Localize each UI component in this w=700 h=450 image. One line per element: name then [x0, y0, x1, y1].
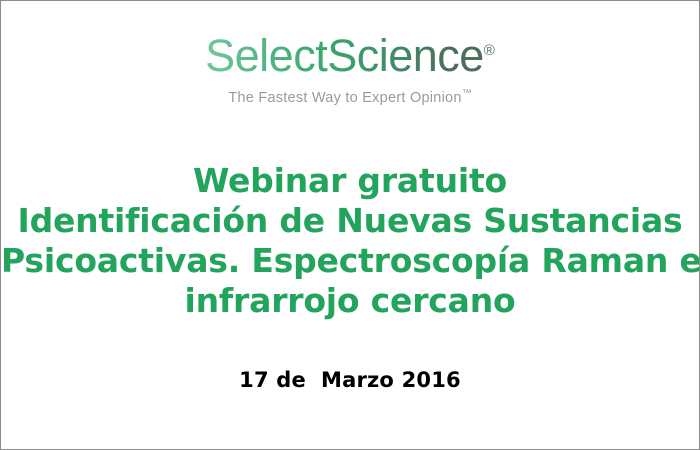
- trademark-icon: ™: [462, 88, 472, 99]
- webinar-slide: SelectScience® The Fastest Way to Expert…: [0, 0, 700, 450]
- headline-line-4: infrarrojo cercano: [1, 281, 699, 321]
- page-title: Webinar gratuito Identificación de Nueva…: [1, 161, 699, 321]
- logo-tagline-text: The Fastest Way to Expert Opinion: [228, 90, 461, 106]
- headline-line-1: Webinar gratuito: [1, 161, 699, 201]
- registered-trademark-icon: ®: [484, 42, 495, 59]
- logo-word-select: Select: [205, 30, 327, 81]
- logo-tagline: The Fastest Way to Expert Opinion™: [1, 89, 699, 105]
- headline-line-3: Psicoactivas. Espectroscopía Raman e: [1, 241, 699, 281]
- logo-word-science: Science: [327, 30, 484, 81]
- logo-wordmark: SelectScience®: [205, 32, 495, 80]
- headline-line-2: Identificación de Nuevas Sustancias: [1, 201, 699, 241]
- event-date: 17 de Marzo 2016: [1, 368, 699, 392]
- selectscience-logo: SelectScience® The Fastest Way to Expert…: [1, 32, 699, 105]
